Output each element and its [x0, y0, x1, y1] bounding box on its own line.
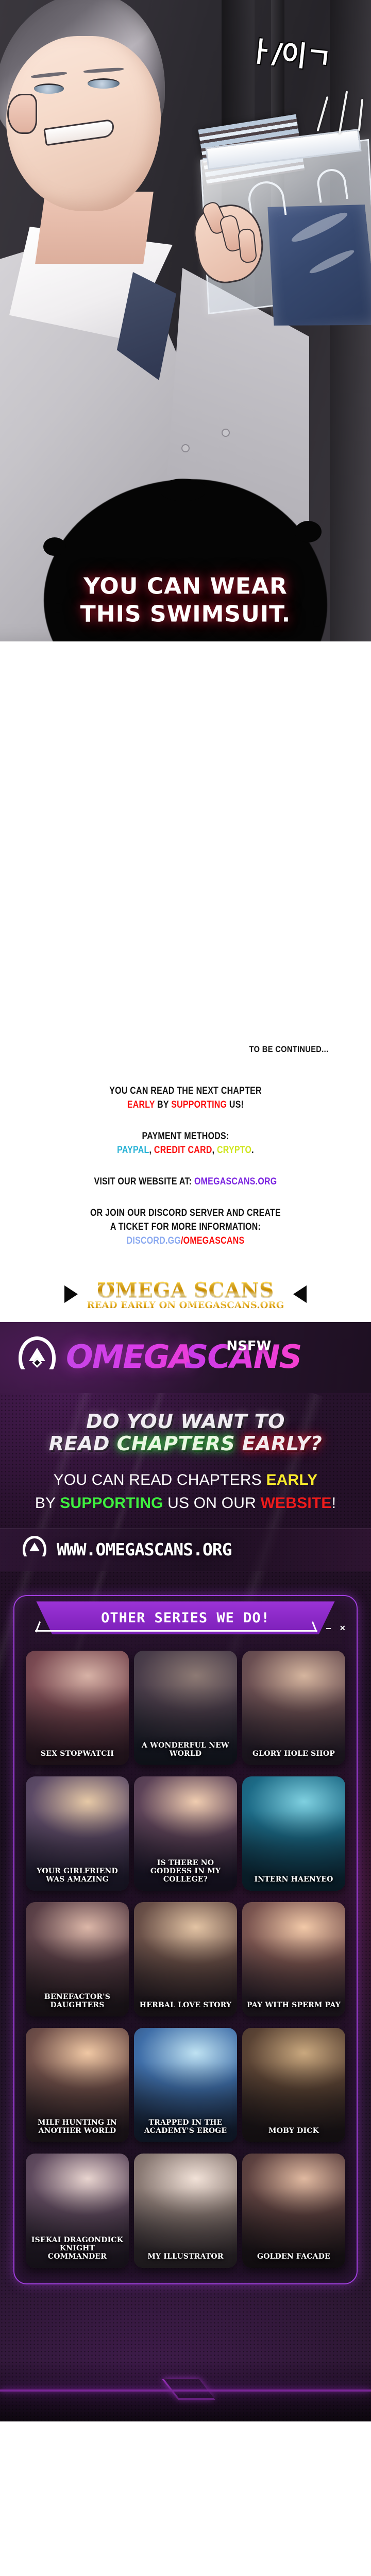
series-title: TRAPPED IN THE ACADEMY'S EROGE [134, 2119, 237, 2135]
sub-early-emphasis: EARLY [266, 1471, 317, 1488]
series-card[interactable]: INTERN HAENYEO [242, 1776, 345, 1891]
visit-website-line: VISIT OUR WEBSITE AT: OMEGASCANS.ORG [30, 1175, 342, 1189]
nsfw-logo-bar[interactable]: OMEGASCANS NSFW [0, 1322, 371, 1393]
sound-effect-text: ㅏ/이ㄱ [246, 28, 333, 77]
thumbnail-veil [242, 2028, 345, 2142]
sub-line-1-text: YOU CAN READ CHAPTERS [54, 1471, 266, 1488]
other-series-header: OTHER SERIES WE DO! [27, 1601, 344, 1634]
omega-scans-gold-banner[interactable]: ℧MEGA SCANS READ EARLY ON OMEGASCANS.ORG [0, 1270, 371, 1322]
promo-sub-line-1: YOU CAN READ CHAPTERS EARLY [7, 1468, 364, 1492]
payment-crypto: CRYPTO [217, 1145, 251, 1156]
series-title: MY ILLUSTRATOR [134, 2252, 237, 2261]
promo-subtext: YOU CAN READ CHAPTERS EARLY BY SUPPORTIN… [0, 1459, 371, 1528]
thumbnail-veil [242, 2154, 345, 2268]
payment-methods-label: PAYMENT METHODS: [30, 1130, 342, 1144]
early-emphasis: EARLY [127, 1099, 155, 1110]
footer-glow [0, 2360, 371, 2421]
speech-bubble-text: YOU CAN WEAR THIS SWIMSUIT. [31, 572, 340, 628]
series-title: HERBAL LOVE STORY [134, 2001, 237, 2009]
window-controls[interactable]: – × [326, 1623, 348, 1634]
comic-panel: ㅏ/이ㄱ YOU CAN WEAR THIS SWIMSUIT. [0, 0, 371, 641]
sep-comma-1: , [149, 1145, 154, 1156]
series-card[interactable]: GLORY HOLE SHOP [242, 1651, 345, 1765]
gold-banner-text: ℧MEGA SCANS READ EARLY ON OMEGASCANS.ORG [87, 1278, 284, 1311]
thumbnail-veil [242, 1776, 345, 1891]
series-card[interactable]: A WONDERFUL NEW WORLD [134, 1651, 237, 1765]
headline-early: EARLY? [235, 1432, 322, 1455]
to-be-continued-label: TO BE CONTINUED... [52, 641, 371, 1055]
other-series-title: OTHER SERIES WE DO! [101, 1610, 270, 1626]
gold-banner-subtitle: READ EARLY ON OMEGASCANS.ORG [87, 1300, 284, 1311]
series-card[interactable]: PAY WITH SPERM PAY [242, 1902, 345, 2016]
promo-headline: DO YOU WANT TO READ CHAPTERS EARLY? [0, 1393, 371, 1460]
series-title: GLORY HOLE SHOP [242, 1750, 345, 1758]
promo-dark-section: OMEGASCANS NSFW DO YOU WANT TO READ CHAP… [0, 1322, 371, 2422]
series-card[interactable]: ISEKAI DRAGONDICK KNIGHT COMMANDER [26, 2154, 129, 2268]
discord-line-2: A TICKET FOR MORE INFORMATION: [30, 1221, 342, 1234]
ink-spatter [43, 537, 66, 556]
series-title: A WONDERFUL NEW WORLD [134, 1741, 237, 1758]
other-series-panel: OTHER SERIES WE DO! – × SEX STOPWATCH A … [13, 1595, 358, 2284]
thumbnail-veil [134, 2154, 237, 2268]
website-url-text[interactable]: WWW.OMEGASCANS.ORG [57, 1539, 232, 1560]
payment-paypal: PAYPAL [117, 1145, 149, 1156]
character-ear [7, 94, 37, 134]
next-chapter-line-1: YOU CAN READ THE NEXT CHAPTER [30, 1084, 342, 1098]
supporting-emphasis: SUPPORTING [171, 1099, 227, 1110]
series-title: GOLDEN FACADE [242, 2252, 345, 2261]
omega-logo-icon [19, 1336, 56, 1379]
headline-chapters: CHAPTERS [117, 1432, 235, 1455]
gold-banner-title: ℧MEGA SCANS [87, 1278, 284, 1302]
character-eye [88, 78, 120, 89]
promo-sub-line-2: BY SUPPORTING US ON OUR WEBSITE! [7, 1492, 364, 1515]
sep-comma-2: , [212, 1145, 217, 1156]
payment-methods-values: PAYPAL, CREDIT CARD, CRYPTO. [30, 1144, 342, 1158]
character-eye [34, 83, 64, 94]
series-card[interactable]: SEX STOPWATCH [26, 1651, 129, 1765]
sep-period: . [251, 1145, 254, 1156]
payment-methods-block: PAYMENT METHODS: PAYPAL, CREDIT CARD, CR… [0, 1130, 371, 1158]
headline-read: READ [49, 1432, 117, 1455]
triangle-left-icon [293, 1285, 307, 1303]
series-title: MOBY DICK [242, 2127, 345, 2135]
series-card[interactable]: IS THERE NO GODDESS IN MY COLLEGE? [134, 1776, 237, 1891]
headline-line-2: READ CHAPTERS EARLY? [10, 1433, 361, 1455]
series-card[interactable]: HERBAL LOVE STORY [134, 1902, 237, 2016]
discord-block: OR JOIN OUR DISCORD SERVER AND CREATE A … [0, 1207, 371, 1248]
discord-domain[interactable]: DISCORD.GG [127, 1235, 181, 1246]
payment-credit-card: CREDIT CARD [154, 1145, 212, 1156]
by-text: BY [155, 1099, 171, 1110]
us-text: US! [227, 1099, 244, 1110]
series-title: SEX STOPWATCH [26, 1750, 129, 1758]
series-card[interactable]: MILF HUNTING IN ANOTHER WORLD [26, 2028, 129, 2142]
discord-invite-line[interactable]: DISCORD.GG/OMEGASCANS [30, 1234, 342, 1248]
triangle-right-icon [64, 1285, 78, 1303]
thumbnail-veil [26, 1651, 129, 1765]
visit-website-block[interactable]: VISIT OUR WEBSITE AT: OMEGASCANS.ORG [0, 1175, 371, 1189]
suit-button [222, 429, 230, 437]
series-grid: SEX STOPWATCH A WONDERFUL NEW WORLD GLOR… [14, 1634, 357, 2268]
ink-spatter [295, 521, 322, 543]
speech-bubble: YOU CAN WEAR THIS SWIMSUIT. [31, 471, 340, 641]
sub-by-text: BY [35, 1495, 60, 1512]
speech-line-2: THIS SWIMSUIT. [31, 600, 340, 628]
next-chapter-block: YOU CAN READ THE NEXT CHAPTER EARLY BY S… [0, 1084, 371, 1112]
sub-website-emphasis: WEBSITE [261, 1495, 332, 1512]
series-title: INTERN HAENYEO [242, 1875, 345, 1884]
thumbnail-veil [134, 1902, 237, 2016]
nsfw-badge: NSFW [226, 1340, 271, 1353]
discord-line-1: OR JOIN OUR DISCORD SERVER AND CREATE [30, 1207, 342, 1221]
series-title: PAY WITH SPERM PAY [242, 2001, 345, 2009]
website-url-strip[interactable]: WWW.OMEGASCANS.ORG [0, 1528, 371, 1571]
series-card[interactable]: MY ILLUSTRATOR [134, 2154, 237, 2268]
sub-supporting-emphasis: SUPPORTING [60, 1495, 163, 1512]
visit-label: VISIT OUR WEBSITE AT: [94, 1176, 194, 1187]
omega-logo-icon [23, 1536, 46, 1563]
speech-line-1: YOU CAN WEAR [31, 572, 340, 600]
sub-mid-text: US ON OUR [163, 1495, 261, 1512]
series-card[interactable]: YOUR GIRLFRIEND WAS AMAZING [26, 1776, 129, 1891]
wordmark-omega: OMEGA [66, 1342, 193, 1372]
series-card[interactable]: GOLDEN FACADE [242, 2154, 345, 2268]
series-card[interactable]: MOBY DICK [242, 2028, 345, 2142]
headline-line-1: DO YOU WANT TO [10, 1411, 361, 1433]
outro-section: TO BE CONTINUED... YOU CAN READ THE NEXT… [0, 641, 371, 1270]
series-title: IS THERE NO GODDESS IN MY COLLEGE? [134, 1859, 237, 1884]
sub-end-text: ! [332, 1495, 336, 1512]
next-chapter-line-2: EARLY BY SUPPORTING US! [30, 1098, 342, 1112]
ink-spatter [160, 479, 206, 501]
header-underline [35, 1630, 317, 1632]
series-title: MILF HUNTING IN ANOTHER WORLD [26, 2119, 129, 2135]
series-title: YOUR GIRLFRIEND WAS AMAZING [26, 1867, 129, 1884]
webtoon-page: ㅏ/이ㄱ YOU CAN WEAR THIS SWIMSUIT. TO BE C… [0, 0, 371, 2421]
omega-scans-wordmark: OMEGASCANS NSFW [66, 1342, 301, 1372]
discord-path[interactable]: /OMEGASCANS [181, 1235, 244, 1246]
series-title: BENEFACTOR'S DAUGHTERS [26, 1993, 129, 2009]
neon-footer [0, 2298, 371, 2421]
suit-button [181, 444, 190, 452]
thumbnail-veil [242, 1902, 345, 2016]
thumbnail-veil [242, 1651, 345, 1765]
series-card[interactable]: TRAPPED IN THE ACADEMY'S EROGE [134, 2028, 237, 2142]
website-url-link[interactable]: OMEGASCANS.ORG [194, 1176, 277, 1187]
series-card[interactable]: BENEFACTOR'S DAUGHTERS [26, 1902, 129, 2016]
series-title: ISEKAI DRAGONDICK KNIGHT COMMANDER [26, 2236, 129, 2261]
